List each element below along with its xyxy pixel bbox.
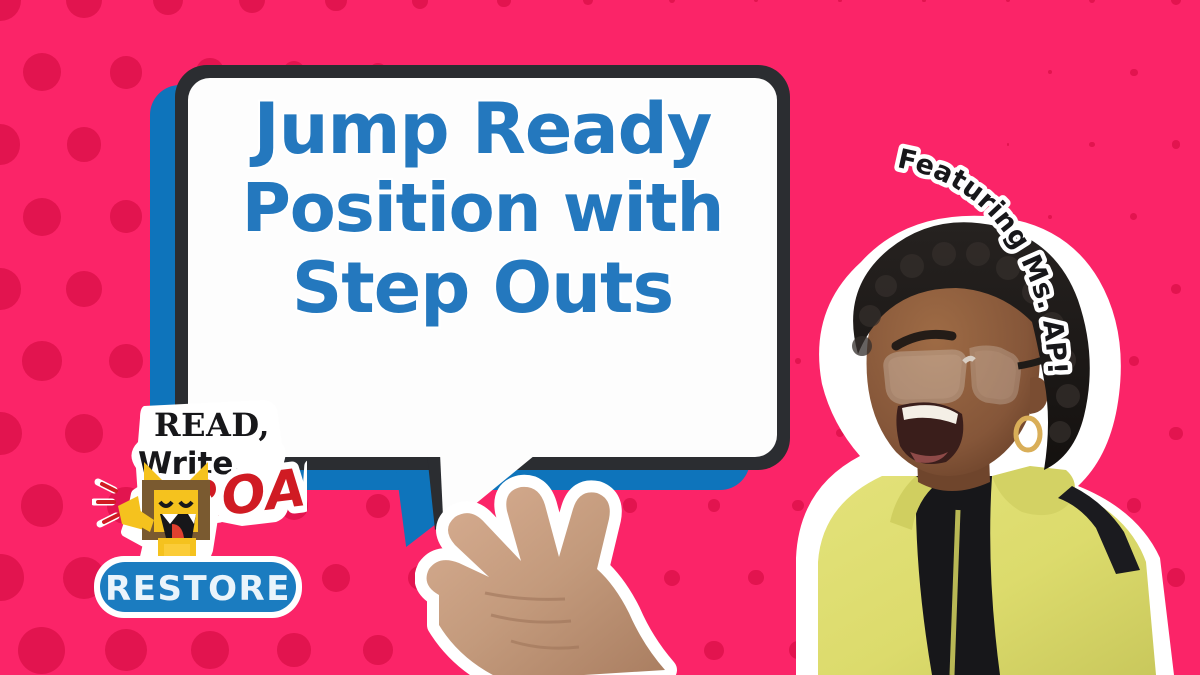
background-dot bbox=[1171, 0, 1181, 5]
headline-line-2: Position with bbox=[188, 170, 777, 248]
presenter-hand bbox=[415, 465, 715, 675]
background-dot bbox=[363, 635, 393, 665]
background-dot bbox=[110, 56, 143, 89]
background-dot bbox=[66, 0, 102, 18]
background-dot bbox=[66, 271, 102, 307]
background-dot bbox=[1172, 140, 1180, 148]
background-dot bbox=[0, 124, 20, 164]
logo-read-text: READ, bbox=[154, 406, 270, 444]
background-dot bbox=[325, 0, 346, 11]
background-dot bbox=[1006, 0, 1011, 2]
background-dot bbox=[1130, 69, 1137, 76]
background-dot bbox=[23, 198, 61, 236]
background-dot bbox=[838, 0, 841, 2]
background-dot bbox=[153, 0, 184, 15]
background-dot bbox=[1048, 70, 1052, 74]
headline: Jump Ready Position with Step Outs bbox=[188, 89, 777, 329]
restore-label: RESTORE bbox=[105, 569, 291, 609]
restore-badge: RESTORE bbox=[94, 556, 302, 618]
background-dot bbox=[754, 0, 759, 2]
background-dot bbox=[922, 0, 925, 2]
background-dot bbox=[0, 554, 24, 601]
background-dot bbox=[105, 629, 147, 671]
background-dot bbox=[0, 268, 21, 309]
background-dot bbox=[583, 0, 593, 5]
background-dot bbox=[0, 0, 21, 21]
background-dot bbox=[669, 0, 676, 3]
headline-line-3: Step Outs bbox=[188, 248, 777, 329]
background-dot bbox=[239, 0, 265, 13]
background-dot bbox=[21, 484, 63, 526]
presenter-body bbox=[818, 466, 1156, 675]
background-dot bbox=[277, 633, 310, 666]
background-dot bbox=[322, 564, 351, 593]
background-dot bbox=[412, 0, 429, 9]
background-dot bbox=[1089, 0, 1096, 3]
background-dot bbox=[0, 412, 22, 455]
svg-text:Featuring Ms. AP!: Featuring Ms. AP! bbox=[895, 143, 1073, 375]
background-dot bbox=[110, 200, 143, 233]
background-dot bbox=[67, 127, 102, 162]
background-dot bbox=[22, 341, 61, 380]
background-dot bbox=[18, 627, 65, 674]
background-dot bbox=[191, 631, 229, 669]
thumbnail-canvas: Jump Ready Position with Step Outs bbox=[0, 0, 1200, 675]
background-dot bbox=[23, 53, 61, 91]
background-dot bbox=[1007, 143, 1009, 145]
feature-badge: Featuring Ms. AP! Featuring Ms. AP! bbox=[872, 150, 1102, 410]
brand-logo: READ, Write, ROAR! ROAR! bbox=[92, 398, 307, 633]
headline-line-1: Jump Ready bbox=[188, 89, 777, 170]
background-dot bbox=[1089, 142, 1094, 147]
background-dot bbox=[109, 344, 143, 378]
background-dot bbox=[497, 0, 510, 7]
